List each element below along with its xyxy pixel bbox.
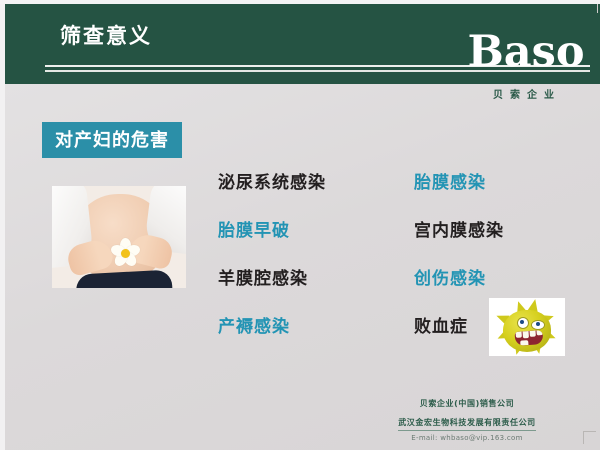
list-item: 产褥感染 [218,316,326,364]
list-item: 宫内膜感染 [414,220,504,268]
flower-icon [112,238,138,264]
slide-edge-top [0,0,600,4]
footer-subsidiary-line: 武汉金宏生物科技发展有限责任公司 [398,417,536,431]
list-item: 羊膜腔感染 [218,268,326,316]
list-item: 泌尿系统感染 [218,172,326,220]
presentation-slide: 筛查意义 Baso 贝索企业 对产妇的危害 泌尿系统感染 胎膜早破 羊膜腔感染 … [0,0,600,450]
germ-illustration [489,298,565,356]
slide-header-banner: 筛查意义 Baso [5,4,600,84]
baso-wordmark: Baso [451,30,600,74]
baso-logo-chinese-label: 贝索企业 [446,86,600,101]
complication-list-left: 泌尿系统感染 胎膜早破 羊膜腔感染 产褥感染 [218,172,326,364]
pregnancy-photo [52,186,186,288]
footer-company-line: 贝索企业(中国)销售公司 [352,398,582,410]
footer-block: 贝索企业(中国)销售公司 武汉金宏生物科技发展有限责任公司 E-mail: wh… [352,398,582,442]
list-item: 胎膜早破 [218,220,326,268]
baso-logo: Baso [451,30,600,74]
section-subtitle: 对产妇的危害 [42,122,182,158]
slide-edge-left [0,0,5,450]
germ-icon [499,304,555,354]
list-item: 胎膜感染 [414,172,504,220]
page-title: 筛查意义 [60,20,152,50]
corner-crop-mark-bottom-right [583,431,596,444]
footer-email: E-mail: whbaso@vip.163.com [352,434,582,442]
